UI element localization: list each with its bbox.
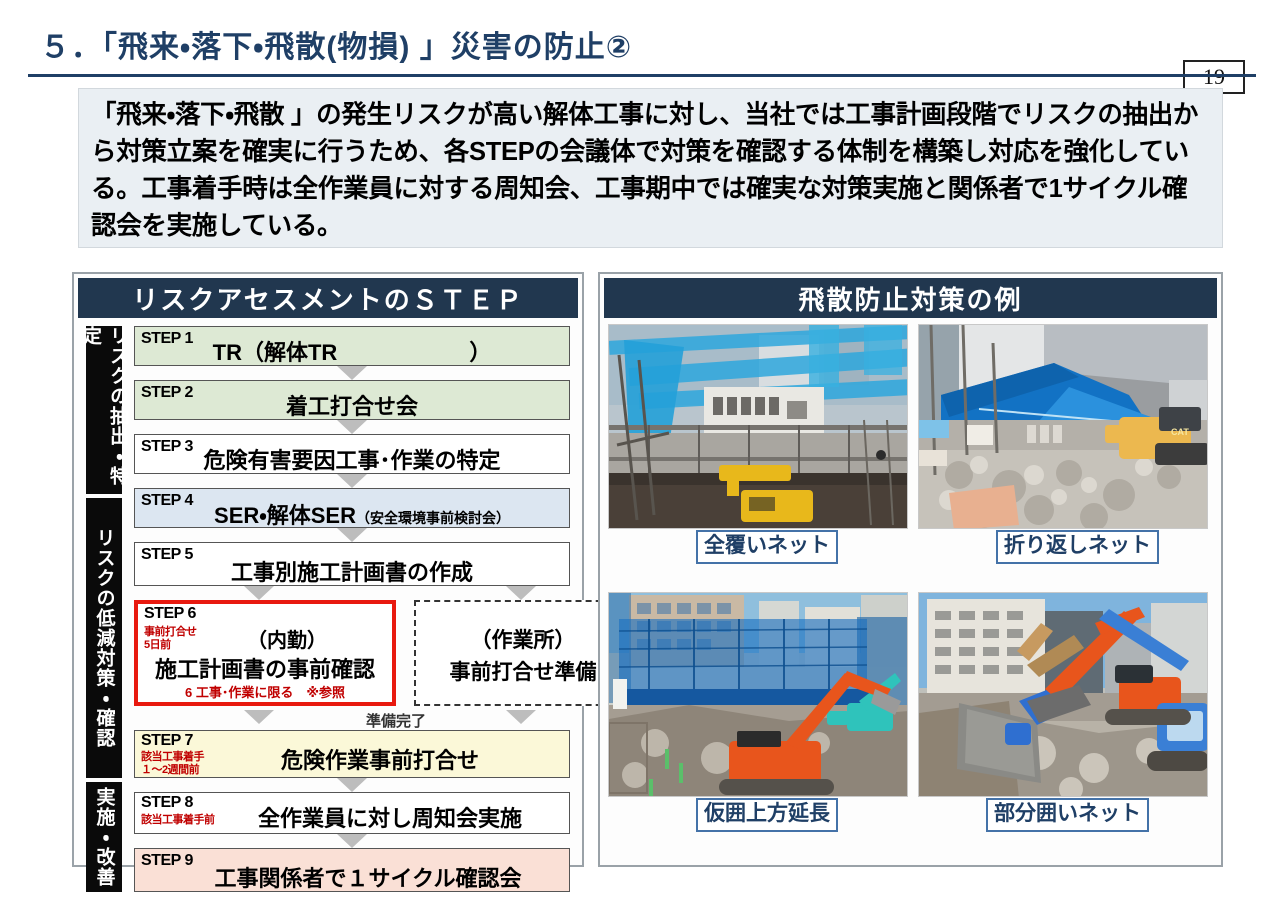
- step-body: 工事関係者で１サイクル確認会: [171, 861, 565, 892]
- step-body: 着工打合せ会: [135, 389, 569, 420]
- flow-arrow-icon: [337, 778, 367, 792]
- phase-label-implementation: 実施・改善: [86, 782, 122, 892]
- photo-partial-enclosure-net: [918, 592, 1208, 797]
- phase-label-reduction: リスクの低減対策・確認: [86, 498, 122, 778]
- flow-arrow-icon: [337, 366, 367, 380]
- step-row-8: STEP 8 該当工事着手前 全作業員に対し周知会実施: [134, 792, 570, 834]
- step-row-5: STEP 5 工事別施工計画書の作成: [134, 542, 570, 586]
- lead-text-box: 「飛来・落下・飛散 」の発生リスクが高い解体工事に対し、当社では工事計画段階でリ…: [78, 88, 1223, 248]
- flow-arrow-icon: [337, 420, 367, 434]
- flow-arrow-icon: [337, 474, 367, 488]
- step-row-1: STEP 1 TR（解体TR ）: [134, 326, 570, 366]
- step-number: STEP 6: [144, 605, 196, 623]
- photo-cell-full-cover-net: 全覆いネット: [608, 324, 908, 559]
- step-row-2: STEP 2 着工打合せ会: [134, 380, 570, 420]
- photo-caption: 全覆いネット: [696, 530, 838, 564]
- step-row-6-highlighted: STEP 6 事前打合せ 5日前 （内勤） 施工計画書の事前確認 6 工事･作業…: [134, 600, 396, 706]
- step-body: 工事別施工計画書の作成: [135, 555, 569, 586]
- step-row-4: STEP 4 SER・解体SER（安全環境事前検討会）: [134, 488, 570, 528]
- step-body: 全作業員に対し周知会実施: [215, 801, 565, 833]
- title-row: ５．「飛来・落下・飛散(物損) 」災害の防止② 19: [0, 22, 1280, 68]
- photo-caption: 仮囲上方延長: [696, 798, 838, 832]
- step-note: （安全環境事前検討会）: [356, 510, 510, 526]
- step-sub-note: 該当工事着手前: [141, 814, 215, 827]
- right-panel-header: 飛散防止対策の例: [604, 278, 1217, 318]
- title-divider: [28, 74, 1256, 77]
- step-number: STEP 7: [141, 732, 193, 750]
- photo-cell-partial-net: 部分囲いネット: [918, 592, 1208, 827]
- flow-arrow-icon: [337, 834, 367, 848]
- ready-label: 準備完了: [366, 710, 426, 731]
- step-body: 危険作業事前打合せ: [195, 743, 565, 775]
- flow-arrow-icon: [244, 710, 274, 724]
- risk-assessment-step-panel: リスクアセスメントのＳＴＥＰ リスクの抽出・特定 リスクの低減対策・確認 実施・…: [72, 272, 584, 867]
- photo-cell-folded-net: CAT 折り返しネット: [918, 324, 1208, 559]
- step-number: STEP 8: [141, 794, 193, 812]
- photo-hoarding-extension: [608, 592, 908, 797]
- page-title: ５．「飛来・落下・飛散(物損) 」災害の防止②: [40, 22, 632, 66]
- step-row-9: STEP 9 工事関係者で１サイクル確認会: [134, 848, 570, 892]
- step-row-3: STEP 3 危険有害要因工事･作業の特定: [134, 434, 570, 474]
- photo-folded-net: CAT: [918, 324, 1208, 529]
- step-red-note: 6 工事･作業に限る ※参照: [138, 682, 392, 701]
- step-body: TR（解体TR ）: [135, 335, 569, 366]
- photo-caption: 部分囲いネット: [986, 798, 1149, 832]
- step-body-top: （内勤）: [186, 624, 388, 653]
- left-panel-header: リスクアセスメントのＳＴＥＰ: [78, 278, 578, 318]
- flow-arrow-icon: [506, 586, 536, 600]
- phase-label-extraction: リスクの抽出・特定: [86, 326, 122, 494]
- prevention-examples-panel: 飛散防止対策の例: [598, 272, 1223, 867]
- photo-cell-hoarding-extension: 仮囲上方延長: [608, 592, 908, 827]
- step-row-7: STEP 7 該当工事着手 １～2週間前 危険作業事前打合せ: [134, 730, 570, 778]
- flow-arrow-icon: [244, 586, 274, 600]
- step-body: 危険有害要因工事･作業の特定: [135, 443, 569, 474]
- flow-arrow-icon: [337, 528, 367, 542]
- photo-caption: 折り返しネット: [996, 530, 1159, 564]
- svg-text:CAT: CAT: [1171, 427, 1189, 437]
- photo-full-cover-net: [608, 324, 908, 529]
- flow-arrow-icon: [506, 710, 536, 724]
- step-body: 施工計画書の事前確認: [138, 652, 392, 684]
- step-body: SER・解体SER（安全環境事前検討会）: [155, 498, 569, 528]
- lead-paragraph: 「飛来・落下・飛散 」の発生リスクが高い解体工事に対し、当社では工事計画段階でリ…: [91, 97, 1212, 245]
